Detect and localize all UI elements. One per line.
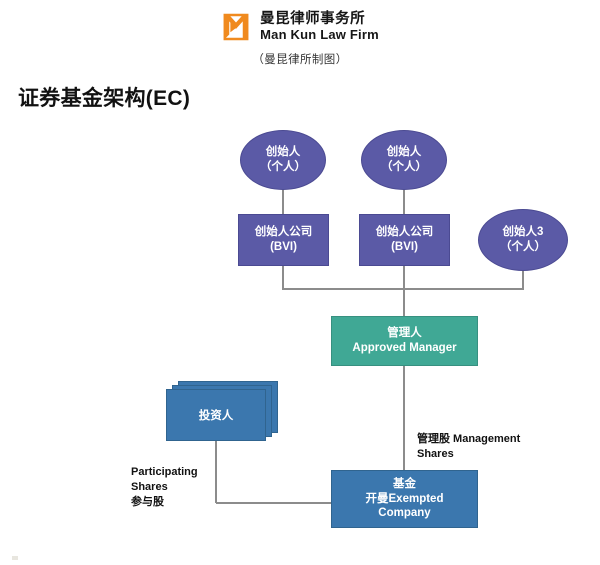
node-fund-label: 基金开曼ExemptedCompany xyxy=(366,477,444,521)
node-founder-company-2-label: 创始人公司(BVI) xyxy=(376,225,434,254)
investors-stack-layer-front: 投资人 xyxy=(166,389,266,441)
annotation-management-shares: 管理股 Management Shares xyxy=(417,432,547,462)
annotation-participating-shares: Participating Shares 参与股 xyxy=(131,465,231,510)
node-approved-manager[interactable]: 管理人Approved Manager xyxy=(331,316,478,366)
node-investors[interactable]: 投资人 xyxy=(166,381,278,443)
footer-mark xyxy=(12,556,18,560)
node-founder3[interactable]: 创始人3（个人） xyxy=(478,209,568,271)
node-investors-label: 投资人 xyxy=(199,407,234,423)
node-founder-company-2[interactable]: 创始人公司(BVI) xyxy=(359,214,450,266)
node-founder2[interactable]: 创始人（个人） xyxy=(361,130,447,190)
node-founder3-label: 创始人3（个人） xyxy=(500,225,546,254)
node-founder-company-1-label: 创始人公司(BVI) xyxy=(255,225,313,254)
node-founder1[interactable]: 创始人（个人） xyxy=(240,130,326,190)
node-founder2-label: 创始人（个人） xyxy=(381,145,427,174)
diagram-connectors xyxy=(0,0,600,565)
node-approved-manager-label: 管理人Approved Manager xyxy=(352,326,456,355)
node-fund[interactable]: 基金开曼ExemptedCompany xyxy=(331,470,478,528)
node-founder-company-1[interactable]: 创始人公司(BVI) xyxy=(238,214,329,266)
node-founder1-label: 创始人（个人） xyxy=(260,145,306,174)
structure-diagram: 创始人（个人） 创始人（个人） 创始人公司(BVI) 创始人公司(BVI) 创始… xyxy=(0,0,600,565)
